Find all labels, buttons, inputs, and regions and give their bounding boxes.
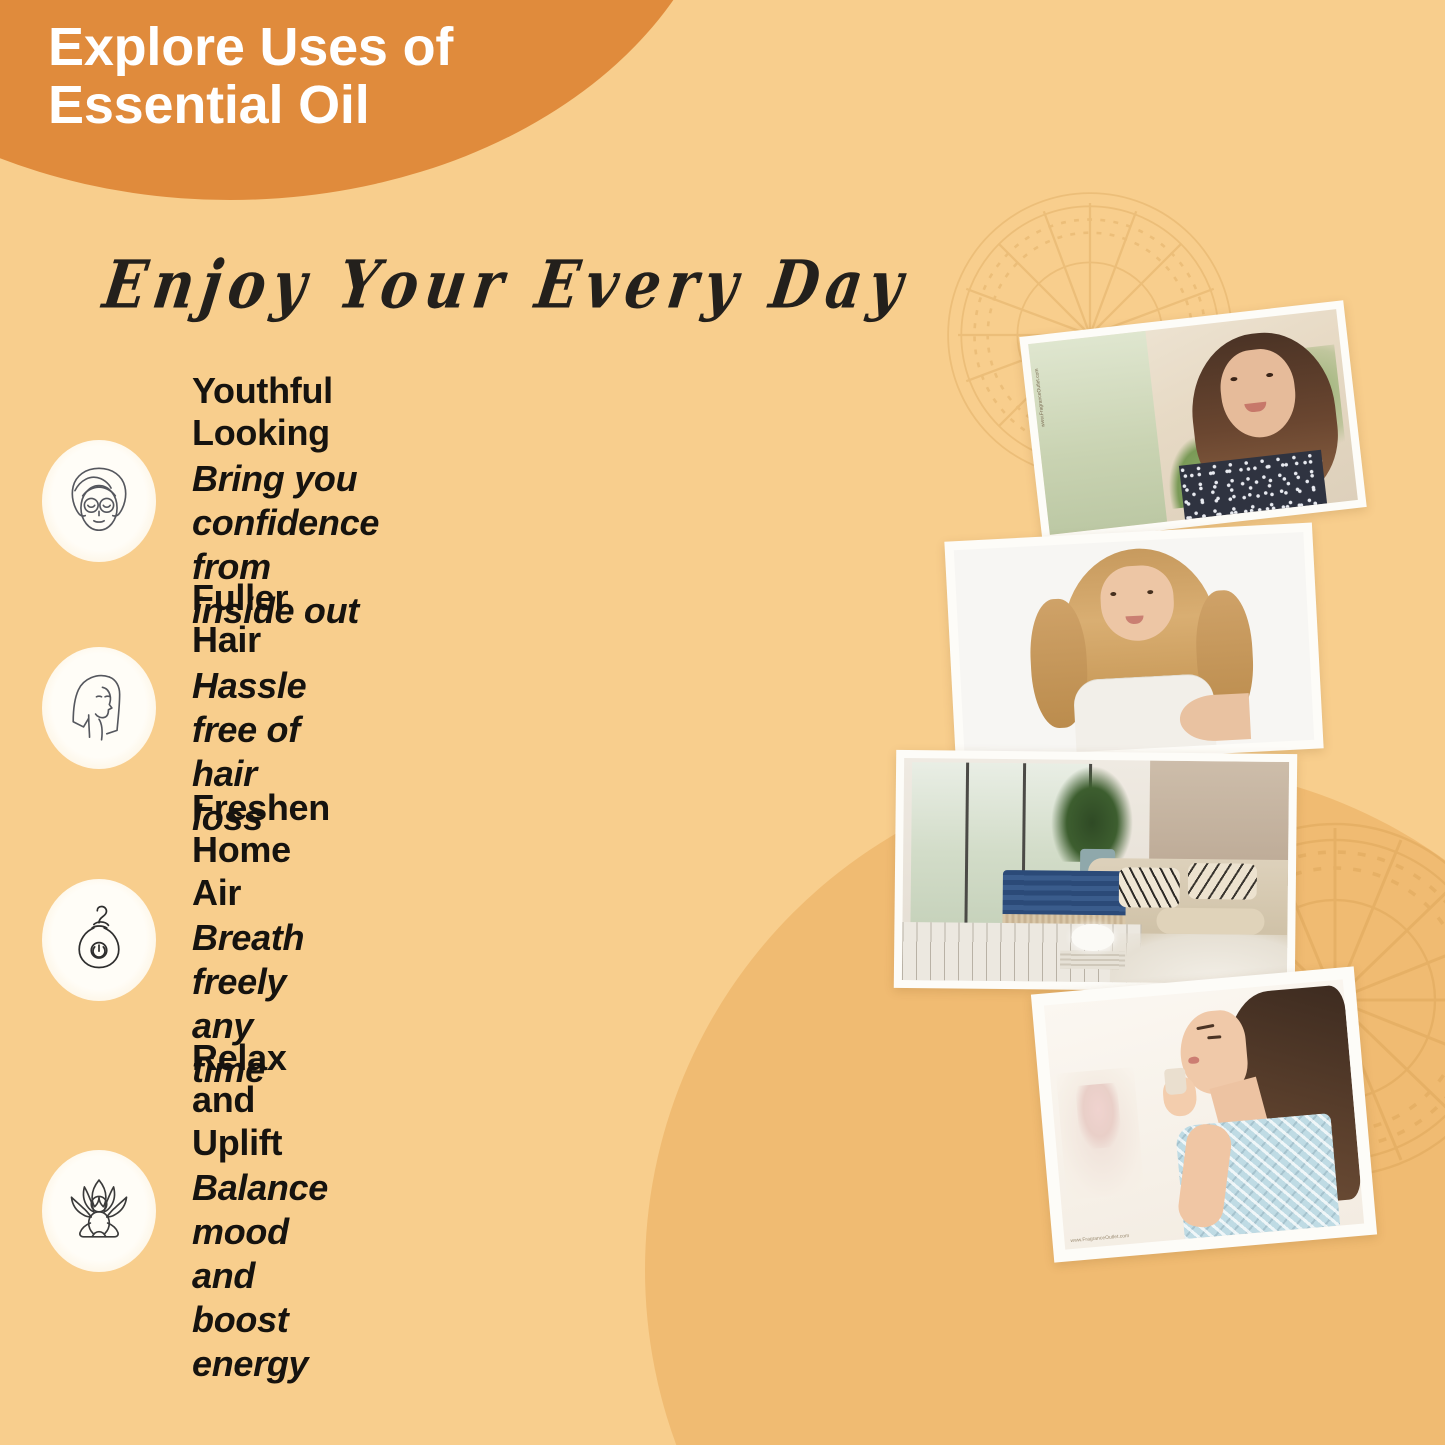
- photo-watermark: www.FragranceOutlet.com: [1070, 1233, 1129, 1244]
- feature-subtitle: Balance mood and boost energy: [192, 1166, 328, 1386]
- photo-full-hair-woman: [944, 523, 1323, 768]
- photo-bg-flowers: [1075, 1083, 1122, 1150]
- feature-title: Fuller Hair: [192, 577, 306, 662]
- photo-bg-wall: [1028, 331, 1167, 535]
- room-round-lamp: [1072, 924, 1115, 951]
- script-heading: Enjoy Your Every Day: [99, 246, 915, 324]
- page-title-line-1: Explore Uses of: [48, 18, 608, 76]
- photo-image: [954, 532, 1314, 758]
- photo-image: [902, 758, 1289, 984]
- photo-fragrance-woman: www.FragranceOutlet.com: [1031, 966, 1377, 1262]
- room-ottoman: [1003, 870, 1127, 920]
- room-pillow: [1188, 863, 1258, 899]
- room-book-stack: [1060, 951, 1126, 969]
- photo-perfume-bottle: [1164, 1067, 1187, 1096]
- photo-smiling-woman: www.FragranceOutlet.com: [1019, 300, 1366, 544]
- photo-subject-eye-right: [1265, 372, 1272, 377]
- photo-living-room: [894, 750, 1297, 992]
- poster-canvas: Explore Uses of Essential Oil Enjoy Your…: [0, 0, 1445, 1445]
- feature-title: Youthful Looking: [192, 370, 379, 455]
- long-hair-profile-icon: [34, 643, 164, 773]
- photo-image: www.FragranceOutlet.com: [1028, 309, 1358, 535]
- feature-item-relax-and-uplift: Relax and Uplift Balance mood and boost …: [34, 1037, 328, 1386]
- feature-title: Relax and Uplift: [192, 1037, 328, 1164]
- photo-subject-lips: [1188, 1056, 1200, 1064]
- page-title-line-2: Essential Oil: [48, 76, 608, 134]
- feature-title: Freshen Home Air: [192, 787, 330, 914]
- lotus-meditation-icon: [34, 1146, 164, 1276]
- feature-text-block: Relax and Uplift Balance mood and boost …: [192, 1037, 328, 1386]
- room-pillow: [1118, 867, 1180, 908]
- face-mask-icon: [34, 436, 164, 566]
- photo-image: www.FragranceOutlet.com: [1044, 979, 1364, 1249]
- room-plant: [1049, 764, 1135, 863]
- page-title: Explore Uses of Essential Oil: [48, 18, 608, 135]
- aroma-diffuser-icon: [34, 875, 164, 1005]
- room-bolster-cushion: [1156, 907, 1264, 935]
- photo-subject-eye-right: [1147, 590, 1153, 594]
